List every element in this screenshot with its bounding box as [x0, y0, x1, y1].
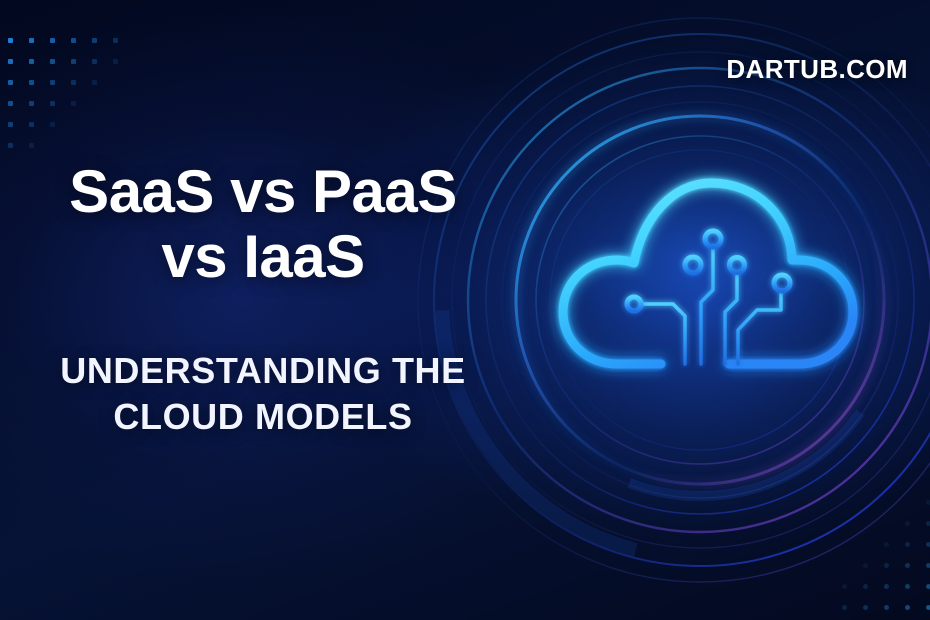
page-title: SaaS vs PaaS vs IaaS — [28, 160, 498, 290]
site-watermark: DARTUB.COM — [726, 54, 908, 85]
grid-dot — [29, 143, 34, 148]
grid-dot — [113, 59, 118, 64]
subtitle-line-2: CLOUD MODELS — [113, 396, 412, 437]
grid-dot — [8, 122, 13, 127]
grid-dot — [50, 38, 55, 43]
subtitle-line-1: UNDERSTANDING THE — [60, 350, 466, 391]
grid-dot — [842, 605, 847, 610]
grid-dot — [71, 101, 76, 106]
dot-grid-bottom-right — [842, 500, 930, 610]
grid-dot — [926, 500, 930, 505]
grid-dot — [50, 59, 55, 64]
grid-dot — [863, 563, 868, 568]
grid-dot — [92, 59, 97, 64]
grid-dot — [884, 605, 889, 610]
grid-dot — [905, 605, 910, 610]
grid-dot — [71, 80, 76, 85]
grid-dot — [926, 605, 930, 610]
grid-dot — [8, 80, 13, 85]
cloud-inner-glow — [563, 183, 853, 364]
grid-dot — [863, 605, 868, 610]
headline-block: SaaS vs PaaS vs IaaS — [28, 160, 498, 290]
grid-dot — [71, 59, 76, 64]
grid-dot — [905, 542, 910, 547]
grid-dot — [8, 38, 13, 43]
grid-dot — [8, 59, 13, 64]
grid-dot — [905, 521, 910, 526]
dot-grid-top-left — [8, 38, 138, 168]
grid-dot — [926, 521, 930, 526]
grid-dot — [8, 143, 13, 148]
grid-dot — [926, 563, 930, 568]
grid-dot — [905, 584, 910, 589]
grid-dot — [884, 563, 889, 568]
grid-dot — [50, 101, 55, 106]
grid-dot — [50, 80, 55, 85]
title-line-1: SaaS vs PaaS — [69, 158, 457, 225]
grid-dot — [884, 584, 889, 589]
grid-dot — [113, 38, 118, 43]
grid-dot — [842, 584, 847, 589]
cloud-circuit-illustration — [533, 150, 883, 420]
grid-dot — [905, 563, 910, 568]
grid-dot — [29, 80, 34, 85]
grid-dot — [29, 101, 34, 106]
grid-dot — [71, 38, 76, 43]
grid-dot — [926, 584, 930, 589]
grid-dot — [29, 59, 34, 64]
title-line-2: vs IaaS — [161, 223, 364, 290]
page-subtitle: UNDERSTANDING THE CLOUD MODELS — [28, 348, 498, 440]
grid-dot — [926, 542, 930, 547]
grid-dot — [92, 80, 97, 85]
grid-dot — [8, 101, 13, 106]
grid-dot — [884, 542, 889, 547]
poster-canvas: DARTUB.COM SaaS vs PaaS vs IaaS UNDERSTA… — [0, 0, 930, 620]
circuit-tails — [672, 364, 729, 420]
grid-dot — [50, 122, 55, 127]
grid-dot — [863, 584, 868, 589]
grid-dot — [29, 38, 34, 43]
grid-dot — [92, 38, 97, 43]
grid-dot — [29, 122, 34, 127]
